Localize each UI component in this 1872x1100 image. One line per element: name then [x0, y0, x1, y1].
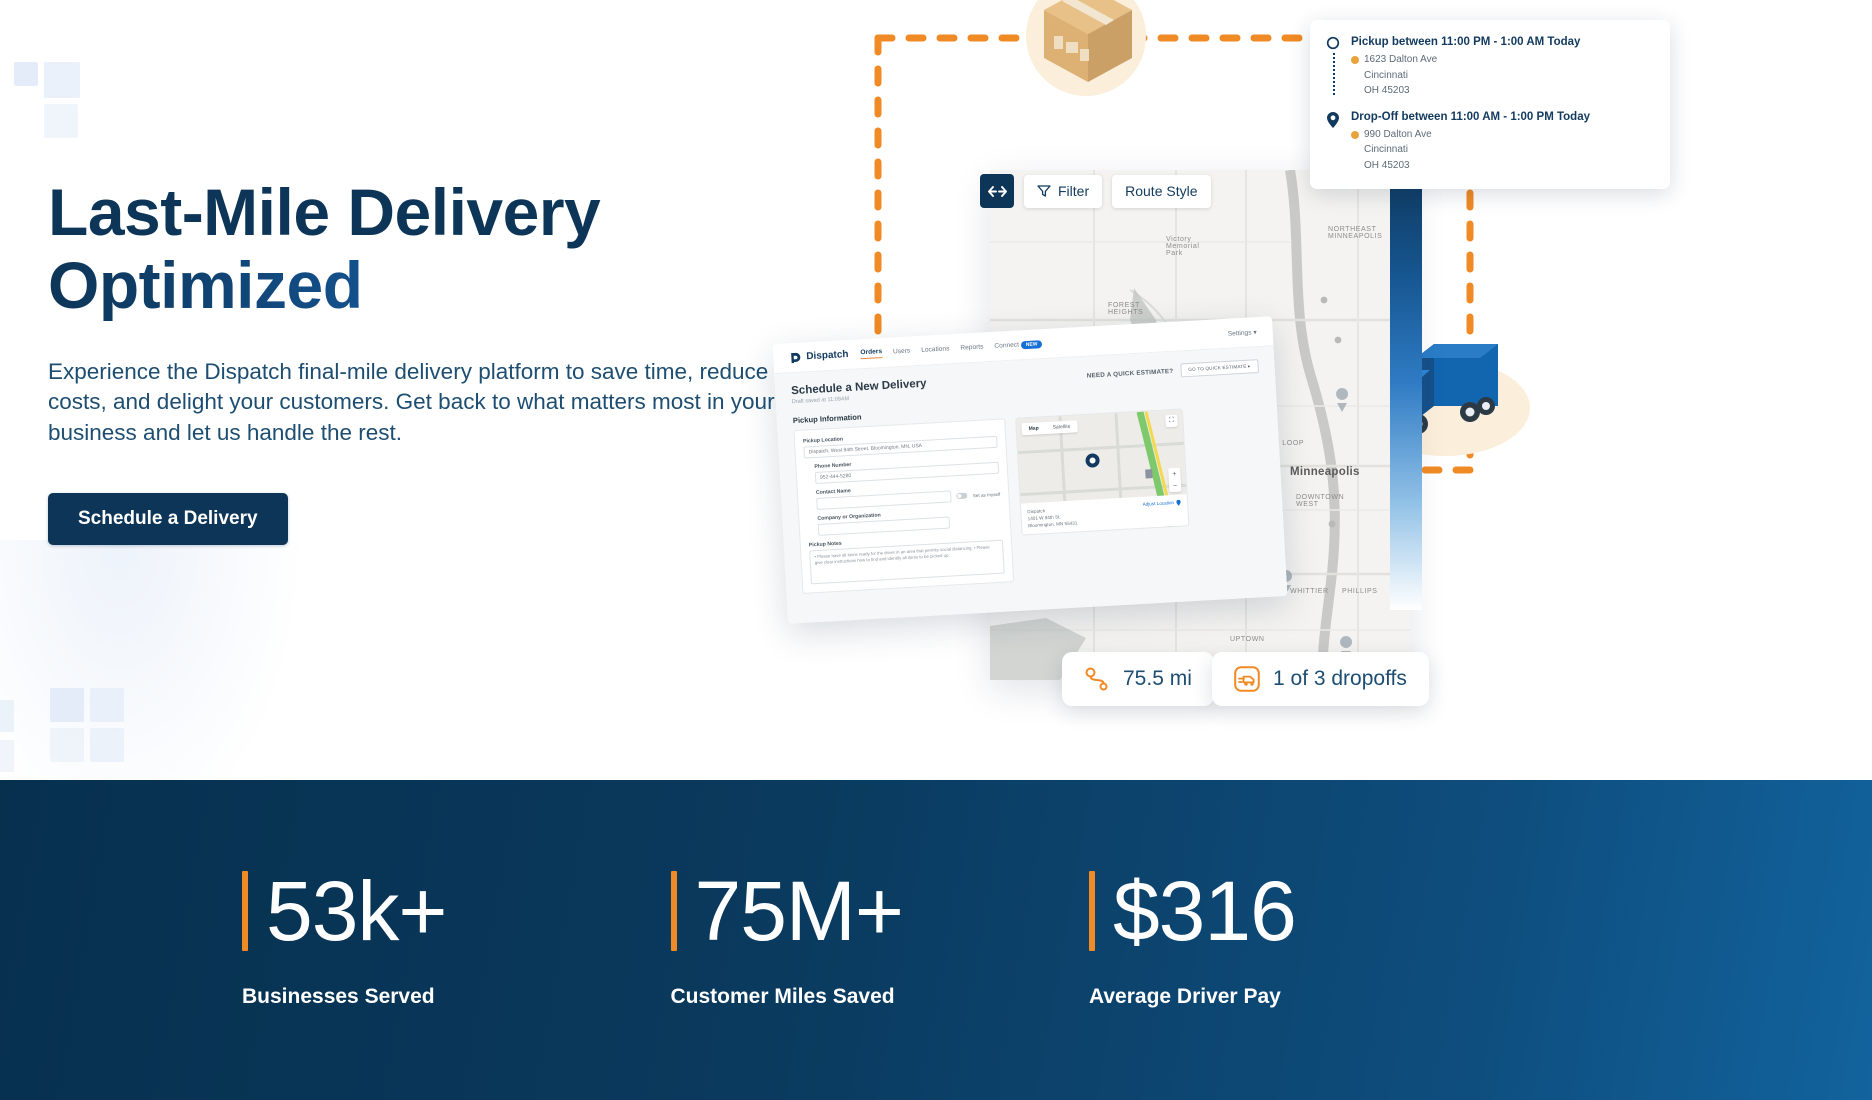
filter-label: Filter: [1058, 183, 1089, 199]
hero-section: Last-Mile Delivery Optimized Experience …: [0, 0, 1872, 780]
quick-estimate-prompt: NEED A QUICK ESTIMATE?: [1087, 367, 1174, 379]
stat-average-driver-pay: $316 Average Driver Pay: [1089, 871, 1296, 1010]
dropoff-icon-column: [1326, 111, 1342, 174]
stat-label: Businesses Served: [242, 985, 447, 1009]
set-as-myself-toggle[interactable]: [957, 493, 968, 500]
settings-label: Settings: [1228, 329, 1252, 337]
dropoffs-label: 1 of 3 dropoffs: [1273, 667, 1407, 691]
distance-label: 75.5 mi: [1123, 667, 1192, 691]
mini-map-tab-satellite[interactable]: Satellite: [1045, 420, 1077, 434]
hero-glow: [0, 540, 300, 780]
stats-bar: 53k+ Businesses Served 75M+ Customer Mil…: [0, 780, 1872, 1100]
nav-item-users[interactable]: Users: [893, 348, 911, 356]
quick-estimate-button[interactable]: GO TO QUICK ESTIMATE ▸: [1180, 359, 1259, 377]
fullscreen-icon: ⛶: [1165, 415, 1178, 428]
adjust-location-link[interactable]: Adjust Location: [1143, 499, 1182, 507]
zoom-out-button[interactable]: −: [1169, 480, 1182, 493]
route-style-label: Route Style: [1125, 183, 1197, 199]
pickup-city: Cincinnati: [1351, 68, 1580, 84]
hero-visual: Minneapolis NORTHEAST MINNEAPOLIS NORTH …: [830, 0, 1872, 780]
adjust-location-label: Adjust Location: [1143, 500, 1175, 507]
nav-item-connect[interactable]: Connect NEW: [994, 340, 1042, 350]
quick-estimate-button-label: GO TO QUICK ESTIMATE: [1188, 364, 1247, 372]
dropoff-city: Cincinnati: [1351, 142, 1590, 158]
pickup-form-columns: Pickup Location Dispatch, West 94th Stre…: [793, 404, 1269, 594]
map-label-place-6: WHITTIER: [1290, 588, 1329, 595]
delivery-schedule-card: Pickup between 11:00 PM - 1:00 AM Today …: [1310, 20, 1670, 189]
location-pin-icon: [1176, 499, 1181, 505]
headline-line-2: Optimized: [48, 251, 838, 320]
stat-label: Average Driver Pay: [1089, 985, 1296, 1009]
stat-accent-bar: [1089, 871, 1095, 952]
pickup-address: 1623 Dalton Ave: [1364, 52, 1437, 68]
quick-estimate-block: NEED A QUICK ESTIMATE? GO TO QUICK ESTIM…: [1086, 359, 1259, 383]
pickup-title: Pickup between 11:00 PM - 1:00 AM Today: [1351, 36, 1580, 49]
route-icon: [1084, 667, 1110, 691]
decorative-squares-top: [14, 62, 100, 162]
pickup-state-zip: OH 45203: [1351, 83, 1580, 99]
dropoff-address: 990 Dalton Ave: [1364, 127, 1432, 143]
dropoff-address-row: 990 Dalton Ave: [1351, 127, 1590, 143]
address-dot-icon: [1351, 56, 1359, 64]
pickup-form-card: Pickup Location Dispatch, West 94th Stre…: [793, 418, 1014, 594]
address-dot-icon: [1351, 131, 1359, 139]
dispatch-brand-label: Dispatch: [806, 349, 849, 362]
nav-item-locations[interactable]: Locations: [921, 345, 950, 354]
map-label-place-0: NORTHEAST MINNEAPOLIS: [1328, 226, 1388, 240]
hero-stats-page: Last-Mile Delivery Optimized Experience …: [0, 0, 1872, 1100]
left-right-arrows-icon: [988, 186, 1007, 197]
pickup-subfields: Phone Number 952-444-5280 Contact Name S…: [814, 454, 1002, 536]
mini-map-address-line2: Bloomington, MN 55431: [1028, 519, 1078, 529]
pickup-address-row: 1623 Dalton Ave: [1351, 52, 1580, 68]
package-box-icon: [1040, 0, 1136, 86]
dispatch-mark-icon: [789, 351, 802, 364]
stat-label: Customer Miles Saved: [671, 985, 903, 1009]
map-label-place-10: FOREST HEIGHTS: [1108, 302, 1152, 316]
stat-accent-bar: [242, 871, 248, 952]
stat-value-row: 75M+: [671, 871, 903, 952]
dropoff-title: Drop-Off between 11:00 AM - 1:00 PM Toda…: [1351, 111, 1590, 124]
pickup-mini-map[interactable]: Map Satellite ⛶ + −: [1015, 408, 1189, 535]
nav-connect-label: Connect: [994, 341, 1019, 349]
mini-map-zoom-controls[interactable]: + −: [1168, 468, 1181, 493]
stat-value-row: $316: [1089, 871, 1296, 952]
stat-value: 75M+: [695, 871, 903, 952]
resize-map-button[interactable]: [980, 174, 1014, 208]
dashboard-body: Schedule a New Delivery Draft saved at 1…: [774, 346, 1287, 624]
stat-accent-bar: [671, 871, 677, 952]
filter-button[interactable]: Filter: [1024, 175, 1102, 208]
stat-value: 53k+: [266, 871, 447, 952]
delivery-van-icon: [1234, 666, 1260, 692]
stat-businesses-served: 53k+ Businesses Served: [242, 871, 447, 1010]
dashboard-nav-items: Orders Users Locations Reports Connect N…: [860, 339, 1043, 359]
hero-subtext: Experience the Dispatch final-mile deliv…: [48, 357, 808, 449]
stat-value: $316: [1113, 871, 1296, 952]
mini-map-fullscreen-button[interactable]: ⛶: [1165, 415, 1178, 428]
distance-pill: 75.5 mi: [1062, 652, 1214, 706]
map-label-city: Minneapolis: [1290, 466, 1360, 478]
circle-pin-icon: [1326, 36, 1340, 50]
nav-item-reports[interactable]: Reports: [960, 343, 983, 351]
dispatch-logo[interactable]: Dispatch: [789, 348, 849, 363]
dispatch-dashboard-screenshot[interactable]: Dispatch Orders Users Locations Reports …: [773, 316, 1288, 623]
hero-copy: Last-Mile Delivery Optimized Experience …: [48, 178, 838, 545]
pickup-icon-column: [1326, 36, 1342, 99]
map-label-place-8: UPTOWN: [1230, 636, 1265, 643]
zoom-in-button[interactable]: +: [1168, 468, 1181, 481]
schedule-a-delivery-button[interactable]: Schedule a Delivery: [48, 493, 288, 545]
route-style-button[interactable]: Route Style: [1112, 175, 1210, 208]
map-pin-icon: [1326, 111, 1340, 129]
headline-line-1: Last-Mile Delivery: [48, 175, 600, 249]
decorative-square-edge: [0, 700, 14, 770]
dropoff-block: Drop-Off between 11:00 AM - 1:00 PM Toda…: [1326, 111, 1652, 174]
map-toolbar: Filter Route Style: [980, 174, 1211, 208]
map-label-place-7: PHILLIPS: [1342, 588, 1378, 595]
dropoffs-pill: 1 of 3 dropoffs: [1212, 652, 1429, 706]
connect-new-badge: NEW: [1021, 340, 1043, 349]
funnel-icon: [1037, 184, 1051, 198]
stat-customer-miles-saved: 75M+ Customer Miles Saved: [671, 871, 903, 1010]
route-gradient-strip: [1390, 155, 1422, 610]
connector-dotted-line: [1333, 53, 1335, 97]
map-label-place-11: Victory Memorial Park: [1166, 236, 1218, 257]
pickup-block: Pickup between 11:00 PM - 1:00 AM Today …: [1326, 36, 1652, 99]
stat-value-row: 53k+: [242, 871, 447, 952]
dropoff-state-zip: OH 45203: [1351, 158, 1590, 174]
nav-item-orders[interactable]: Orders: [860, 348, 882, 359]
map-label-place-3: DOWNTOWN WEST: [1296, 494, 1348, 508]
decorative-squares-bottom: [50, 688, 128, 766]
mini-map-address: Dispatch 1401 W 94th St, Bloomington, MN…: [1027, 505, 1077, 529]
set-as-myself-label: Set as myself: [973, 491, 1001, 498]
mini-map-tab-map[interactable]: Map: [1021, 422, 1046, 435]
page-title: Last-Mile Delivery Optimized: [48, 178, 838, 321]
settings-menu[interactable]: Settings ▾: [1227, 328, 1256, 338]
